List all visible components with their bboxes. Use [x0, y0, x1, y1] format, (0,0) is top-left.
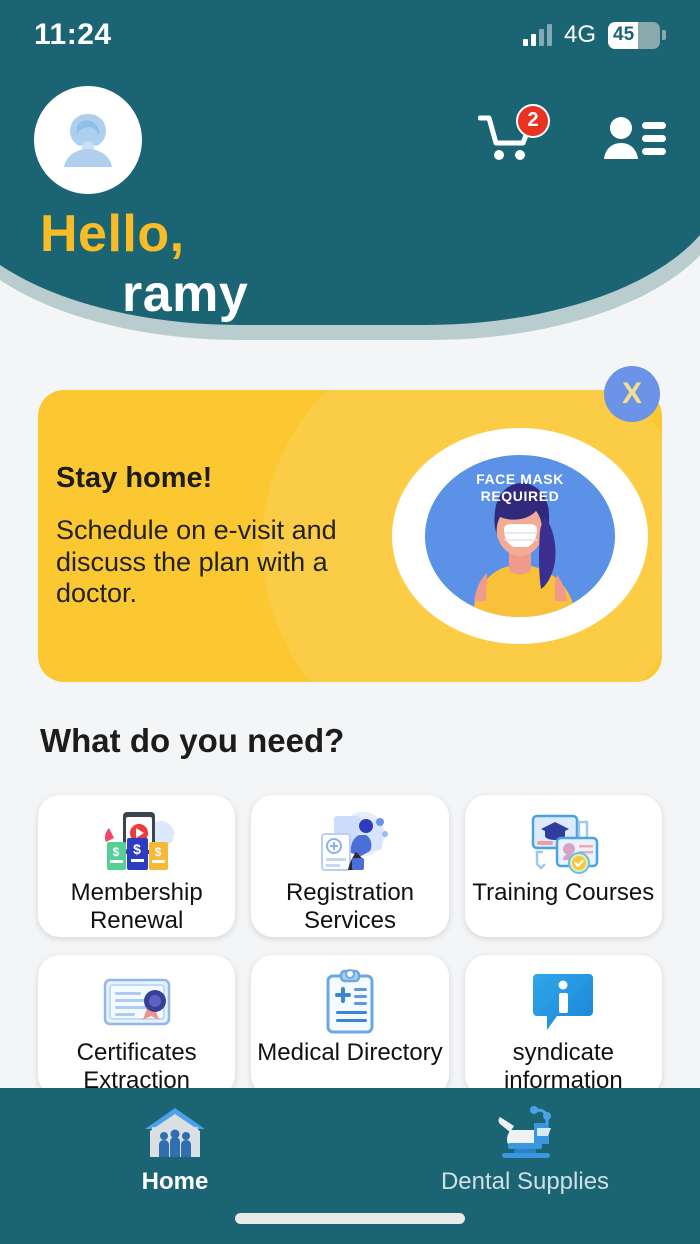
service-card-membership-renewal[interactable]: $ $ $ Membership Renewal: [38, 795, 235, 937]
header-toolbar: 2: [0, 86, 700, 194]
banner-text-block: Stay home! Schedule on e-visit and discu…: [38, 462, 368, 611]
banner-illustration-caption-line2: REQUIRED: [481, 488, 560, 504]
nav-item-label: Home: [142, 1168, 209, 1196]
nav-item-home[interactable]: Home: [0, 1102, 350, 1196]
home-icon: [141, 1102, 209, 1164]
contact-list-icon: [604, 114, 666, 162]
nav-item-dental-supplies[interactable]: Dental Supplies: [350, 1102, 700, 1196]
network-type-label: 4G: [564, 21, 596, 49]
service-card-registration-services[interactable]: Registration Services: [251, 795, 448, 937]
signal-bars-icon: [523, 24, 552, 46]
svg-text:$: $: [112, 845, 119, 859]
nav-item-label: Dental Supplies: [441, 1168, 609, 1196]
contacts-button[interactable]: [604, 114, 666, 167]
greeting-username: ramy: [40, 265, 248, 325]
masked-woman-illustration: FACE MASK REQUIRED: [392, 428, 648, 644]
status-indicators: 4G 45: [523, 21, 666, 49]
service-card-label: Membership Renewal: [38, 879, 235, 935]
cart-badge: 2: [516, 104, 550, 138]
service-card-certificates-extraction[interactable]: Certificates Extraction: [38, 955, 235, 1097]
status-time: 11:24: [34, 18, 112, 52]
services-heading: What do you need?: [40, 722, 344, 760]
bottom-navigation-bar: Home Dental Supplies: [0, 1088, 700, 1244]
battery-level-label: 45: [608, 24, 634, 46]
service-card-label: Medical Directory: [253, 1039, 446, 1067]
home-indicator[interactable]: [235, 1213, 465, 1224]
app-screen: 11:24 4G 45: [0, 0, 700, 1244]
service-card-label: syndicate information: [465, 1039, 662, 1095]
svg-text:$: $: [133, 841, 141, 857]
service-card-label: Certificates Extraction: [38, 1039, 235, 1095]
avatar[interactable]: [34, 86, 142, 194]
certificates-extraction-icon: [95, 965, 179, 1039]
greeting-block: Hello, ramy: [40, 205, 248, 325]
services-grid: $ $ $ Membership Renewal: [38, 795, 662, 1097]
registration-services-icon: [308, 805, 392, 879]
header-actions: 2: [478, 112, 666, 169]
syndicate-information-icon: [521, 965, 605, 1039]
service-card-label: Registration Services: [251, 879, 448, 935]
service-card-training-courses[interactable]: Training Courses: [465, 795, 662, 937]
greeting-hello: Hello,: [40, 205, 248, 265]
banner-illustration-caption-line1: FACE MASK: [476, 471, 564, 487]
banner-body: Schedule on e-visit and discuss the plan…: [56, 515, 368, 611]
promo-banner[interactable]: Stay home! Schedule on e-visit and discu…: [38, 390, 662, 682]
membership-renewal-icon: $ $ $: [95, 805, 179, 879]
banner-close-button[interactable]: X: [604, 366, 660, 422]
battery-icon: 45: [608, 22, 666, 49]
banner-title: Stay home!: [56, 462, 368, 495]
status-bar: 11:24 4G 45: [0, 0, 700, 70]
service-card-syndicate-information[interactable]: syndicate information: [465, 955, 662, 1097]
training-courses-icon: [521, 805, 605, 879]
service-card-medical-directory[interactable]: Medical Directory: [251, 955, 448, 1097]
medical-directory-icon: [308, 965, 392, 1039]
dental-chair-icon: [490, 1102, 560, 1164]
svg-text:$: $: [154, 845, 161, 859]
service-card-label: Training Courses: [468, 879, 658, 907]
user-avatar-icon: [49, 101, 127, 179]
cart-button[interactable]: 2: [478, 112, 536, 169]
promo-banner-container: X Stay home! Schedule on e-visit and dis…: [38, 390, 662, 682]
